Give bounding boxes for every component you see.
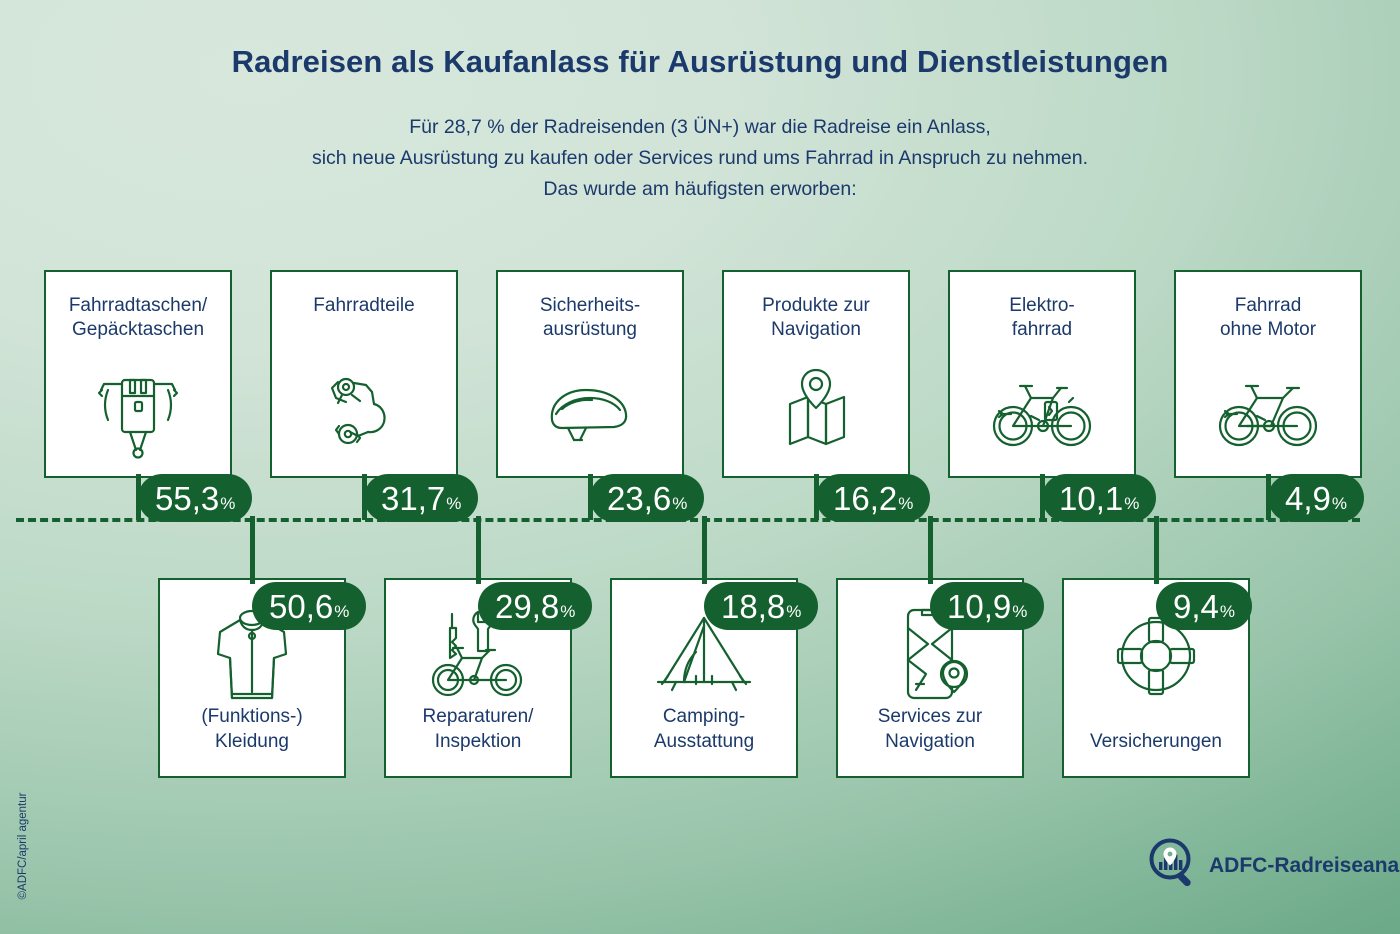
infographic-root: Radreisen als Kaufanlass für Ausrüstung … (0, 0, 1400, 934)
card-label-line1: Elektro- (950, 294, 1134, 318)
subtitle: Für 28,7 % der Radreisenden (3 ÜN+) war … (0, 112, 1400, 204)
bottom-stem-4 (1154, 516, 1159, 584)
card-label-line2: fahrrad (950, 318, 1134, 342)
adfc-logo: ADFC-Radreiseanalyse (1148, 838, 1400, 893)
card-label: Services zurNavigation (838, 705, 1022, 754)
card-label: Sicherheits-ausrüstung (498, 294, 682, 343)
derailleur-icon (272, 360, 456, 464)
card-label-line1: Produkte zur (724, 294, 908, 318)
subtitle-line-2: sich neue Ausrüstung zu kaufen oder Serv… (0, 143, 1400, 174)
card-label-line1: Fahrradtaschen/ (46, 294, 230, 318)
card-label-line2: Inspektion (386, 730, 570, 754)
top-value-badge-2: 23,6% (590, 474, 704, 522)
card-label-line2: ausrüstung (498, 318, 682, 342)
card-label: (Funktions-)Kleidung (160, 705, 344, 754)
card-label-line2: Kleidung (160, 730, 344, 754)
top-card-1[interactable]: Fahrradteile (270, 270, 458, 478)
card-label: Reparaturen/Inspektion (386, 705, 570, 754)
bottom-value-badge-1: 29,8% (478, 582, 592, 630)
card-label-line2: Navigation (724, 318, 908, 342)
card-label-line2: ohne Motor (1176, 318, 1360, 342)
card-label-line1: Services zur (838, 705, 1022, 729)
card-label-line1: (Funktions-) (160, 705, 344, 729)
top-card-5[interactable]: Fahrradohne Motor (1174, 270, 1362, 478)
bottom-stem-3 (928, 516, 933, 584)
card-label: Fahrradohne Motor (1176, 294, 1360, 343)
top-card-3[interactable]: Produkte zurNavigation (722, 270, 910, 478)
card-label-line2: Ausstattung (612, 730, 796, 754)
bottom-stem-1 (476, 516, 481, 584)
card-label: Produkte zurNavigation (724, 294, 908, 343)
top-value-badge-4: 10,1% (1042, 474, 1156, 522)
card-label-line1: Camping- (612, 705, 796, 729)
top-card-0[interactable]: Fahrradtaschen/Gepäcktaschen (44, 270, 232, 478)
card-label-line2: Gepäcktaschen (46, 318, 230, 342)
card-label: Versicherungen (1064, 730, 1248, 754)
bottom-value-badge-3: 10,9% (930, 582, 1044, 630)
map-pin-icon (724, 360, 908, 464)
card-label: Fahrradtaschen/Gepäcktaschen (46, 294, 230, 343)
card-label-line1: Sicherheits- (498, 294, 682, 318)
top-value-badge-1: 31,7% (364, 474, 478, 522)
bottom-value-badge-0: 50,6% (252, 582, 366, 630)
bottom-value-badge-4: 9,4% (1156, 582, 1252, 630)
card-label-line1: Reparaturen/ (386, 705, 570, 729)
logo-text: ADFC-Radreiseanalyse (1209, 854, 1400, 878)
top-value-badge-3: 16,2% (816, 474, 930, 522)
magnifier-chart-icon (1148, 838, 1200, 893)
top-card-4[interactable]: Elektro-fahrrad (948, 270, 1136, 478)
card-label: Fahrradteile (272, 294, 456, 318)
card-label: Camping-Ausstattung (612, 705, 796, 754)
card-label-line1: Fahrrad (1176, 294, 1360, 318)
card-label-line1: Fahrradteile (272, 294, 456, 318)
copyright-credit: ©ADFC/april agentur (17, 776, 29, 916)
card-label-line1: Versicherungen (1064, 730, 1248, 754)
card-label: Elektro-fahrrad (950, 294, 1134, 343)
bottom-stem-2 (702, 516, 707, 584)
ebike-icon (950, 360, 1134, 464)
bicycle-icon (1176, 360, 1360, 464)
pannier-bag-icon (46, 360, 230, 464)
top-value-badge-5: 4,9% (1268, 474, 1364, 522)
bottom-value-badge-2: 18,8% (704, 582, 818, 630)
page-title: Radreisen als Kaufanlass für Ausrüstung … (0, 44, 1400, 80)
bottom-stem-0 (250, 516, 255, 584)
subtitle-line-1: Für 28,7 % der Radreisenden (3 ÜN+) war … (0, 112, 1400, 143)
card-label-line2: Navigation (838, 730, 1022, 754)
helmet-icon (498, 360, 682, 464)
subtitle-line-3: Das wurde am häufigsten erworben: (0, 174, 1400, 205)
top-value-badge-0: 55,3% (138, 474, 252, 522)
top-card-2[interactable]: Sicherheits-ausrüstung (496, 270, 684, 478)
